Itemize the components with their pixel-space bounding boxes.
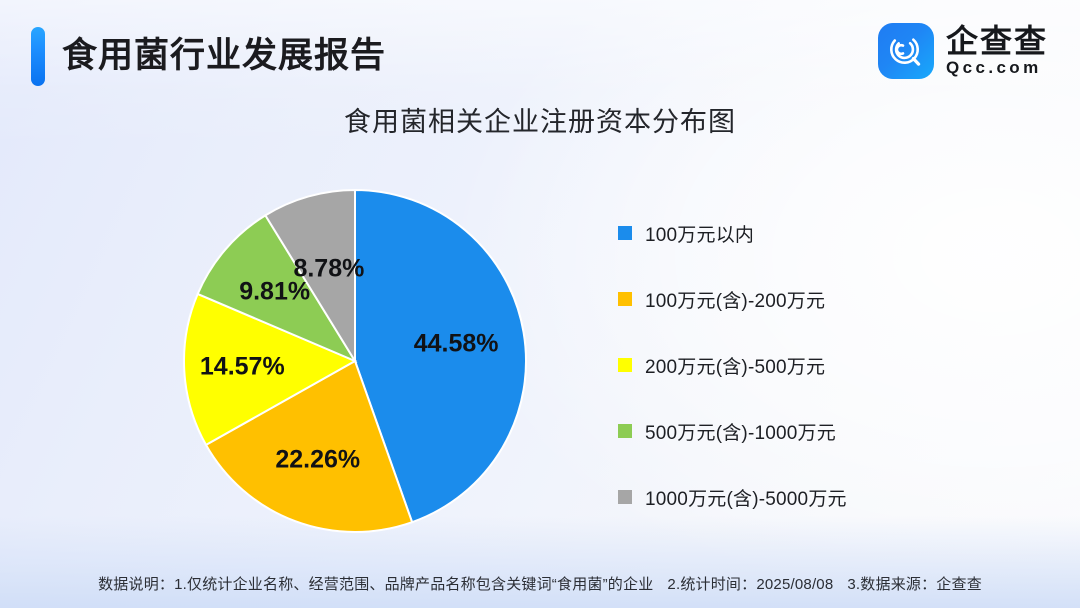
pie-slice-label: 22.26% <box>275 446 360 475</box>
legend-label: 500万元(含)-1000万元 <box>645 418 836 445</box>
legend-swatch-icon <box>618 226 632 240</box>
title-accent-bar <box>31 27 45 86</box>
footer-note: 数据说明：1.仅统计企业名称、经营范围、品牌产品名称包含关键词“食用菌”的企业2… <box>0 573 1080 594</box>
legend-item[interactable]: 500万元(含)-1000万元 <box>618 398 998 464</box>
legend-item[interactable]: 200万元(含)-500万元 <box>618 332 998 398</box>
chart-title: 食用菌相关企业注册资本分布图 <box>0 100 1080 139</box>
header: 食用菌行业发展报告 企查查 Qcc.com <box>0 0 1080 96</box>
pie-chart: 44.58%22.26%14.57%9.81%8.78% <box>183 189 527 533</box>
pie-slice-label: 44.58% <box>414 329 499 358</box>
logo-cn-name: 企查查 <box>946 24 1048 58</box>
logo-wordmark: 企查查 Qcc.com <box>946 23 1048 79</box>
legend-item[interactable]: 100万元以内 <box>618 200 998 266</box>
page-title: 食用菌行业发展报告 <box>62 26 386 86</box>
footer-segment: 3.数据来源：企查查 <box>847 576 982 593</box>
qcc-logo-icon <box>878 23 934 79</box>
brand-logo[interactable]: 企查查 Qcc.com <box>878 22 1048 80</box>
footer-segment: 数据说明：1.仅统计企业名称、经营范围、品牌产品名称包含关键词“食用菌”的企业 <box>98 576 653 593</box>
legend-swatch-icon <box>618 358 632 372</box>
legend-swatch-icon <box>618 490 632 504</box>
legend-item[interactable]: 100万元(含)-200万元 <box>618 266 998 332</box>
legend-item[interactable]: 1000万元(含)-5000万元 <box>618 464 998 530</box>
pie-slice-label: 14.57% <box>200 353 285 382</box>
legend-label: 100万元以内 <box>645 220 754 247</box>
legend-swatch-icon <box>618 292 632 306</box>
logo-en-name: Qcc.com <box>946 58 1048 78</box>
report-canvas: 食用菌行业发展报告 企查查 Qcc.com 食用菌相关企业注册资本分布图 <box>0 0 1080 608</box>
chart-legend: 100万元以内100万元(含)-200万元200万元(含)-500万元500万元… <box>618 200 998 530</box>
legend-label: 1000万元(含)-5000万元 <box>645 484 847 511</box>
footer-segment: 2.统计时间：2025/08/08 <box>667 576 833 593</box>
legend-label: 200万元(含)-500万元 <box>645 352 825 379</box>
pie-slice-label: 8.78% <box>293 254 364 283</box>
legend-swatch-icon <box>618 424 632 438</box>
legend-label: 100万元(含)-200万元 <box>645 286 825 313</box>
